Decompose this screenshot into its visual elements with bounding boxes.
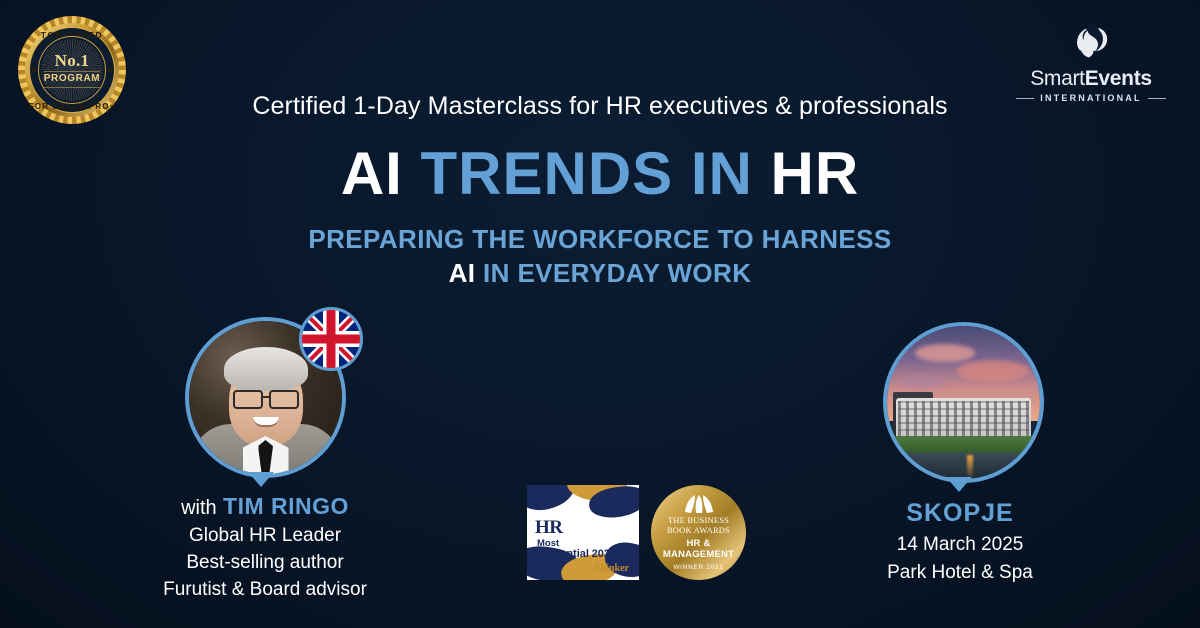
book-award-category-2: MANAGEMENT bbox=[663, 549, 734, 560]
venue-place: Park Hotel & Spa bbox=[820, 559, 1100, 587]
speaker-pointer-icon bbox=[248, 472, 274, 487]
subtitle-line-1: PREPARING THE WORKFORCE TO HARNESS bbox=[0, 222, 1200, 256]
speaker-name: TIM RINGO bbox=[223, 493, 349, 519]
speaker-role-3: Furutist & Board advisor bbox=[110, 577, 420, 604]
thinker-influential-text: Influential bbox=[537, 548, 589, 560]
glasses-lens-left bbox=[233, 390, 263, 409]
thinker-hr-text: HR bbox=[535, 517, 563, 539]
speaker-role-1: Global HR Leader bbox=[110, 523, 420, 550]
thinker-year-text: 2022 bbox=[592, 548, 616, 560]
book-award-category-1: HR & bbox=[686, 538, 710, 549]
thinker-label: Thinker bbox=[535, 563, 639, 574]
venue-date: 14 March 2025 bbox=[820, 531, 1100, 559]
book-award-winner: WINNER 2021 bbox=[673, 564, 723, 571]
brand-name-part1: Smart bbox=[1030, 67, 1085, 90]
subtitle-rest: IN EVERYDAY WORK bbox=[483, 258, 751, 288]
venue-city: SKOPJE bbox=[820, 495, 1100, 531]
page-title: AI TRENDS IN HR bbox=[0, 142, 1200, 205]
brand-name: SmartEvents bbox=[1016, 68, 1166, 89]
venue-info: SKOPJE 14 March 2025 Park Hotel & Spa bbox=[820, 495, 1100, 586]
title-part-trends-in: TRENDS IN bbox=[420, 140, 752, 207]
badge-program-text: PROGRAM bbox=[44, 71, 100, 88]
speaker-with-label: with bbox=[181, 497, 217, 519]
badge-rank-text: No.1 bbox=[55, 52, 90, 69]
brand-logo: SmartEvents INTERNATIONAL bbox=[1016, 22, 1166, 103]
speaker-role-2: Best-selling author bbox=[110, 550, 420, 577]
venue-grass bbox=[887, 436, 1040, 453]
venue-photo bbox=[883, 322, 1044, 483]
thinker-most-influential: MostInfluential 2022 bbox=[537, 539, 616, 561]
venue-pointer-icon bbox=[946, 477, 972, 492]
thinker-text-block: HRMostInfluential 2022 Thinker bbox=[527, 517, 639, 574]
event-poster: TOP RATED FOR SALES PROs ★ ★ No.1 PROGRA… bbox=[0, 0, 1200, 628]
subtitle: PREPARING THE WORKFORCE TO HARNESS AI IN… bbox=[0, 222, 1200, 291]
smartevents-mark-icon bbox=[1069, 22, 1113, 62]
title-part-hr: HR bbox=[771, 140, 860, 207]
star-left-icon: ★ bbox=[30, 65, 38, 76]
speaker-hair bbox=[224, 347, 308, 391]
brand-name-part2: Events bbox=[1085, 67, 1152, 90]
cloud-3 bbox=[899, 375, 945, 388]
venue-light-reflection bbox=[967, 455, 973, 479]
cloud-2 bbox=[957, 360, 1029, 382]
glasses-lens-right bbox=[269, 390, 299, 409]
open-book-icon bbox=[682, 494, 716, 514]
title-part-ai: AI bbox=[341, 140, 403, 207]
award-business-book: THE BUSINESS BOOK AWARDS HR & MANAGEMENT… bbox=[651, 485, 746, 580]
star-right-icon: ★ bbox=[106, 65, 114, 76]
speaker-info: with TIM RINGO Global HR Leader Best-sel… bbox=[110, 490, 420, 604]
glasses-icon bbox=[233, 390, 299, 405]
venue-building bbox=[896, 398, 1031, 438]
award-hr-most-influential: HRMostInfluential 2022 Thinker bbox=[527, 485, 639, 580]
kicker-text: Certified 1-Day Masterclass for HR execu… bbox=[0, 92, 1200, 121]
flag-cross-red-horizontal bbox=[302, 335, 360, 344]
speaker-name-line: with TIM RINGO bbox=[110, 490, 420, 523]
book-award-line-2: BOOK AWARDS bbox=[667, 526, 730, 535]
uk-flag-icon bbox=[299, 307, 363, 371]
subtitle-ai: AI bbox=[449, 258, 476, 288]
venue-river bbox=[887, 453, 1040, 479]
subtitle-line-2: AI IN EVERYDAY WORK bbox=[0, 256, 1200, 290]
